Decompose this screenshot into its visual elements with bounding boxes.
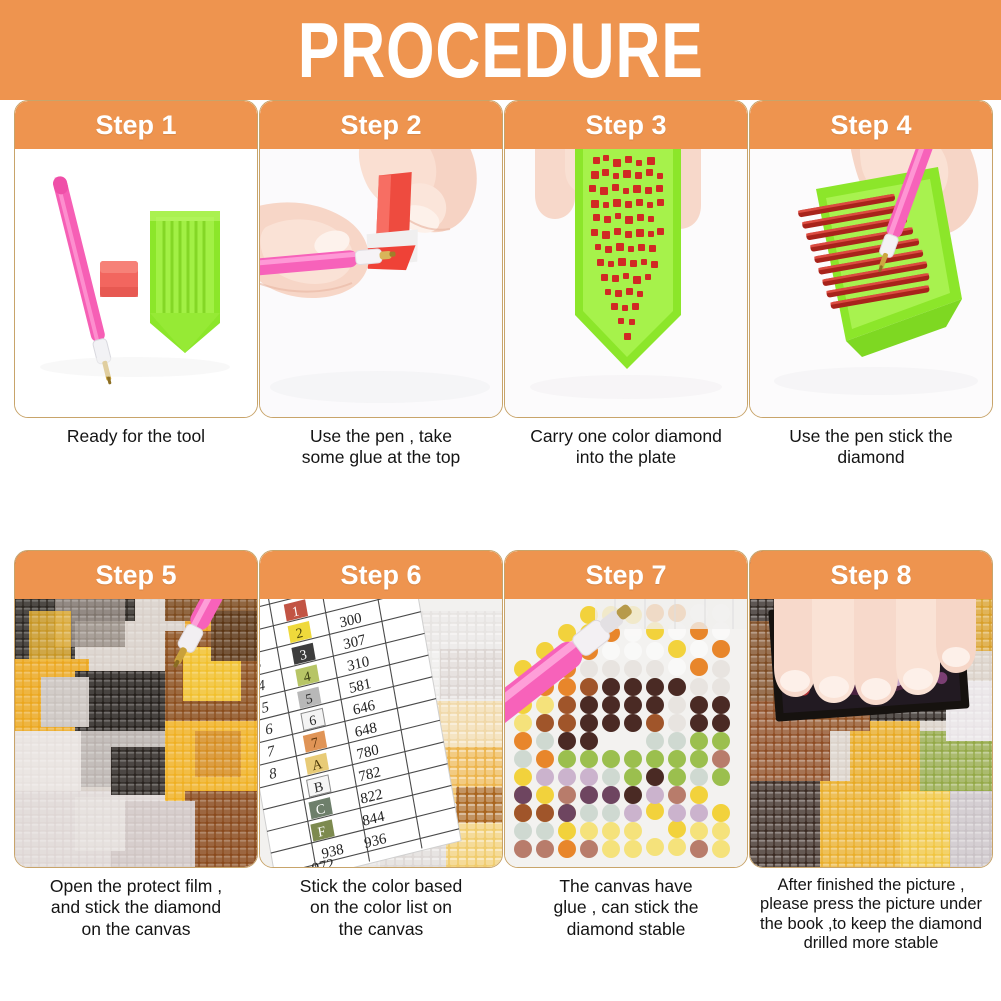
step-1-caption: Ready for the tool xyxy=(10,426,262,447)
steps-row-top: Step 1 Ready for the tool xyxy=(0,100,1001,550)
step-5-header: Step 5 xyxy=(15,551,257,599)
step-card-7-frame: Step 7 xyxy=(504,550,748,868)
step-card-6[interactable]: Symbol Symbol DMC 123 456 78 xyxy=(259,550,503,1000)
step-7-header-label: Step 7 xyxy=(585,562,666,589)
step-3-caption: Carry one color diamond into the plate xyxy=(500,426,752,469)
step-card-5[interactable]: Step 5 Open the protect film , and stick… xyxy=(14,550,258,1000)
step-5-header-label: Step 5 xyxy=(95,562,176,589)
step-4-header: Step 4 xyxy=(750,101,992,149)
step-7-header: Step 7 xyxy=(505,551,747,599)
step-card-1[interactable]: Step 1 Ready for the tool xyxy=(14,100,258,550)
step-8-header: Step 8 xyxy=(750,551,992,599)
step-1-header-label: Step 1 xyxy=(95,112,176,139)
step-1-header: Step 1 xyxy=(15,101,257,149)
step-card-5-frame: Step 5 xyxy=(14,550,258,868)
step-4-caption: Use the pen stick the diamond xyxy=(745,426,997,469)
step-5-caption: Open the protect film , and stick the di… xyxy=(10,876,262,940)
step-card-4-frame: Step 4 xyxy=(749,100,993,418)
step-4-header-label: Step 4 xyxy=(830,112,911,139)
steps-row-bottom: Step 5 Open the protect film , and stick… xyxy=(0,550,1001,1000)
page-title: PROCEDURE xyxy=(298,11,704,89)
step-card-1-frame: Step 1 xyxy=(14,100,258,418)
step-card-6-frame: Symbol Symbol DMC 123 456 78 xyxy=(259,550,503,868)
step-card-3[interactable]: Step 3 Carry one color diamond into the … xyxy=(504,100,748,550)
page-header-banner: PROCEDURE xyxy=(0,0,1001,100)
step-3-header: Step 3 xyxy=(505,101,747,149)
step-card-2-frame: Step 2 xyxy=(259,100,503,418)
step-card-8-frame: Step 8 xyxy=(749,550,993,868)
step-2-header-label: Step 2 xyxy=(340,112,421,139)
steps-grid: Step 1 Ready for the tool xyxy=(0,100,1001,1000)
step-8-header-label: Step 8 xyxy=(830,562,911,589)
step-2-header: Step 2 xyxy=(260,101,502,149)
procedure-infographic: PROCEDURE xyxy=(0,0,1001,1001)
step-card-2[interactable]: Step 2 Use the pen , take some glue at t… xyxy=(259,100,503,550)
step-2-caption: Use the pen , take some glue at the top xyxy=(255,426,507,469)
step-6-caption: Stick the color based on the color list … xyxy=(255,876,507,940)
step-3-header-label: Step 3 xyxy=(585,112,666,139)
step-card-3-frame: Step 3 xyxy=(504,100,748,418)
step-card-8[interactable]: Step 8 After finished the picture , plea… xyxy=(749,550,993,1000)
step-6-header: Step 6 xyxy=(260,551,502,599)
step-card-4[interactable]: Step 4 Use the pen stick the diamond xyxy=(749,100,993,550)
step-6-header-label: Step 6 xyxy=(340,562,421,589)
step-7-caption: The canvas have glue , can stick the dia… xyxy=(500,876,752,940)
step-8-caption: After finished the picture , please pres… xyxy=(737,876,1001,954)
step-card-7[interactable]: Step 7 The canvas have glue , can stick … xyxy=(504,550,748,1000)
